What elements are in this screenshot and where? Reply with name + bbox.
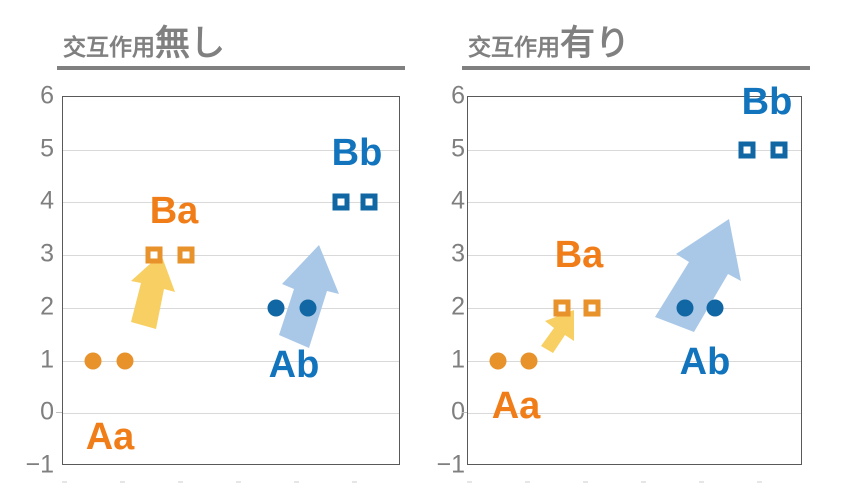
x-tick-dot-3 [178,481,183,483]
y-axis-right: 6 5 4 3 2 1 0 −1 [421,96,465,465]
marker-bb-2[interactable] [771,141,788,158]
marker-ba-2[interactable] [178,247,195,264]
x-tick-dot-2 [120,481,125,483]
plot-area-left: Aa Ba Ab Bb [62,96,400,465]
series-label-aa: Aa [86,418,135,456]
panel-title-left-text: 交互作用無し [63,26,225,61]
y-tick-label-4: 4 [431,189,465,214]
marker-ba-2[interactable] [584,299,601,316]
panel-title-right-big: 有り [560,24,630,63]
marker-ab-1[interactable] [677,299,694,316]
marker-aa-2[interactable] [521,352,538,369]
marker-aa-1[interactable] [85,352,102,369]
y-tick-label-6: 6 [20,84,54,109]
x-tick-dot-3 [583,481,588,483]
panel-title-left-small: 交互作用 [63,34,155,60]
x-tick-dot-6 [352,481,357,483]
panel-title-right: 交互作用有り [462,14,810,70]
y-tick-label-0: 0 [431,400,465,425]
x-tick-dot-5 [699,481,704,483]
marker-ab-2[interactable] [300,299,317,316]
series-label-ab: Ab [269,346,320,384]
panel-title-right-text: 交互作用有り [468,26,630,61]
x-tick-dot-2 [525,481,530,483]
series-label-bb: Bb [742,83,793,121]
panel-with-interaction: 交互作用有り 6 5 4 3 2 1 0 −1 [421,0,842,490]
marker-aa-1[interactable] [490,352,507,369]
y-tick-label-5: 5 [20,136,54,161]
y-axis-left: 6 5 4 3 2 1 0 −1 [10,96,54,465]
marker-aa-2[interactable] [117,352,134,369]
series-label-ba: Ba [150,192,199,230]
marker-bb-2[interactable] [361,194,378,211]
panel-title-left-underline [57,66,405,70]
panel-title-left: 交互作用無し [57,14,405,70]
y-tick-label-4: 4 [20,189,54,214]
x-tick-dot-4 [641,481,646,483]
series-label-bb: Bb [332,134,383,172]
series-label-ba: Ba [555,236,604,274]
x-tick-dot-5 [294,481,299,483]
series-label-ab: Ab [680,343,731,381]
y-tick-label-neg1: −1 [20,453,54,478]
x-tick-dot-6 [757,481,762,483]
y-tick-label-neg1: −1 [431,453,465,478]
y-tick-label-0: 0 [20,400,54,425]
marker-ba-1[interactable] [146,247,163,264]
marker-ab-2[interactable] [707,299,724,316]
y-tick-label-2: 2 [20,294,54,319]
marker-bb-1[interactable] [739,141,756,158]
plot-area-right: Aa Ba Ab Bb [467,96,802,465]
y-tick-label-6: 6 [431,84,465,109]
y-tick-label-3: 3 [431,242,465,267]
y-tick-label-3: 3 [20,242,54,267]
panel-title-left-big: 無し [155,24,225,63]
y-tick-label-1: 1 [20,347,54,372]
marker-ba-1[interactable] [554,299,571,316]
marker-ab-1[interactable] [268,299,285,316]
y-tick-label-2: 2 [431,294,465,319]
series-label-aa: Aa [492,387,541,425]
y-tick-label-5: 5 [431,136,465,161]
y-tick-label-1: 1 [431,347,465,372]
panel-title-right-small: 交互作用 [468,34,560,60]
marker-bb-1[interactable] [333,194,350,211]
panel-no-interaction: 交互作用無し 6 5 4 3 2 1 0 −1 [0,0,421,490]
x-tick-dot-1 [467,481,472,483]
x-tick-dot-1 [62,481,67,483]
panel-title-right-underline [462,66,810,70]
x-tick-dot-4 [236,481,241,483]
